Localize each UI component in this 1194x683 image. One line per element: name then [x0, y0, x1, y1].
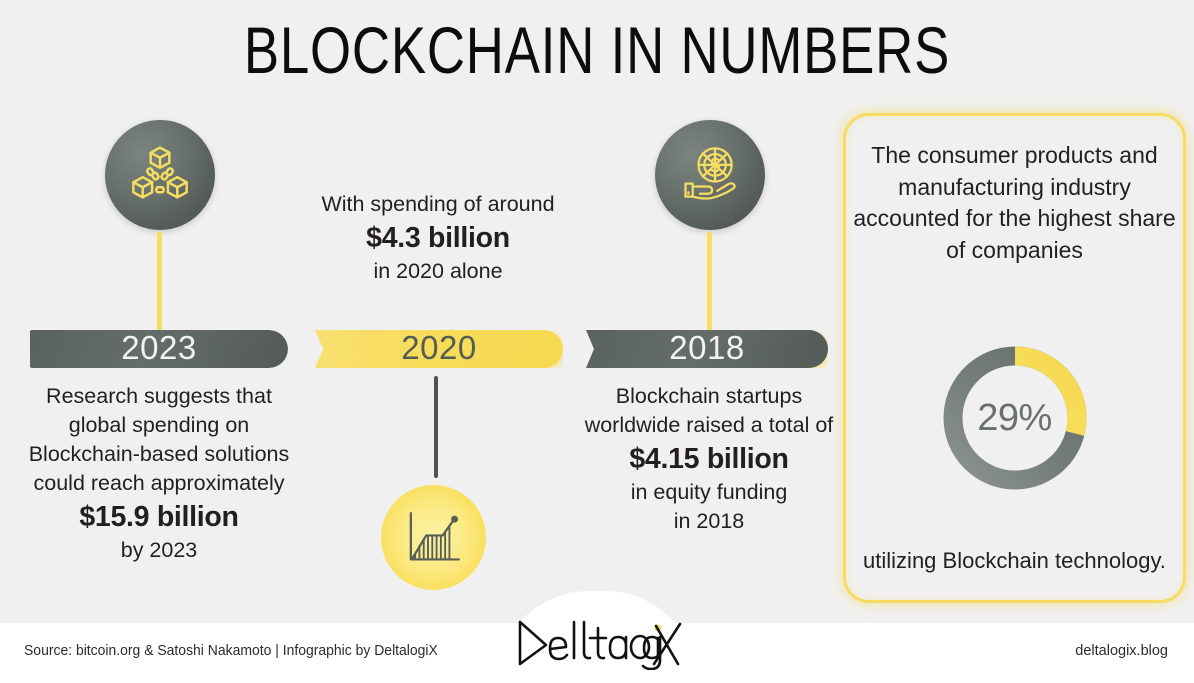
blockchain-nodes-icon [105, 120, 215, 230]
column-2018-highlight: $4.15 billion [578, 440, 840, 478]
donut-chart: 29% [935, 338, 1095, 498]
infographic-canvas: BLOCKCHAIN IN NUMBERS [0, 0, 1194, 683]
column-2020-highlight: $4.3 billion [288, 219, 588, 257]
year-banner-2023: 2023 [30, 330, 288, 368]
footer-bar: Source: bitcoin.org & Satoshi Nakamoto |… [0, 623, 1194, 683]
connector-2023 [157, 232, 162, 332]
footer-source-text: Source: bitcoin.org & Satoshi Nakamoto |… [24, 642, 438, 659]
deltalogix-logo [502, 614, 692, 670]
highlight-panel: The consumer products and manufacturing … [843, 113, 1186, 603]
year-banner-2018: 2018 [586, 330, 828, 368]
year-banner-2020: 2020 [315, 330, 563, 368]
growth-chart-icon [381, 485, 486, 590]
donut-center-label: 29% [935, 338, 1095, 498]
connector-2020 [434, 376, 438, 478]
column-2018-lead: Blockchain startups worldwide raised a t… [578, 382, 840, 440]
column-2023-text: Research suggests that global spending o… [22, 382, 296, 565]
hand-holding-coin-icon [655, 120, 765, 230]
panel-heading: The consumer products and manufacturing … [846, 140, 1183, 266]
column-2018-tail-line1: in equity funding [578, 478, 840, 507]
column-2018-tail-line2: in 2018 [578, 507, 840, 536]
page-title: BLOCKCHAIN IN NUMBERS [119, 14, 1074, 86]
footer-website-link[interactable]: deltalogix.blog [1075, 643, 1168, 659]
connector-2018 [707, 232, 712, 332]
column-2023-tail: by 2023 [22, 536, 296, 565]
column-2023-highlight: $15.9 billion [22, 498, 296, 536]
panel-footer-text: utilizing Blockchain technology. [846, 546, 1183, 576]
column-2020-lead: With spending of around [288, 190, 588, 219]
column-2020-tail: in 2020 alone [288, 257, 588, 286]
column-2020-text: With spending of around $4.3 billion in … [288, 190, 588, 286]
column-2023-lead: Research suggests that global spending o… [22, 382, 296, 498]
column-2018-text: Blockchain startups worldwide raised a t… [578, 382, 840, 536]
